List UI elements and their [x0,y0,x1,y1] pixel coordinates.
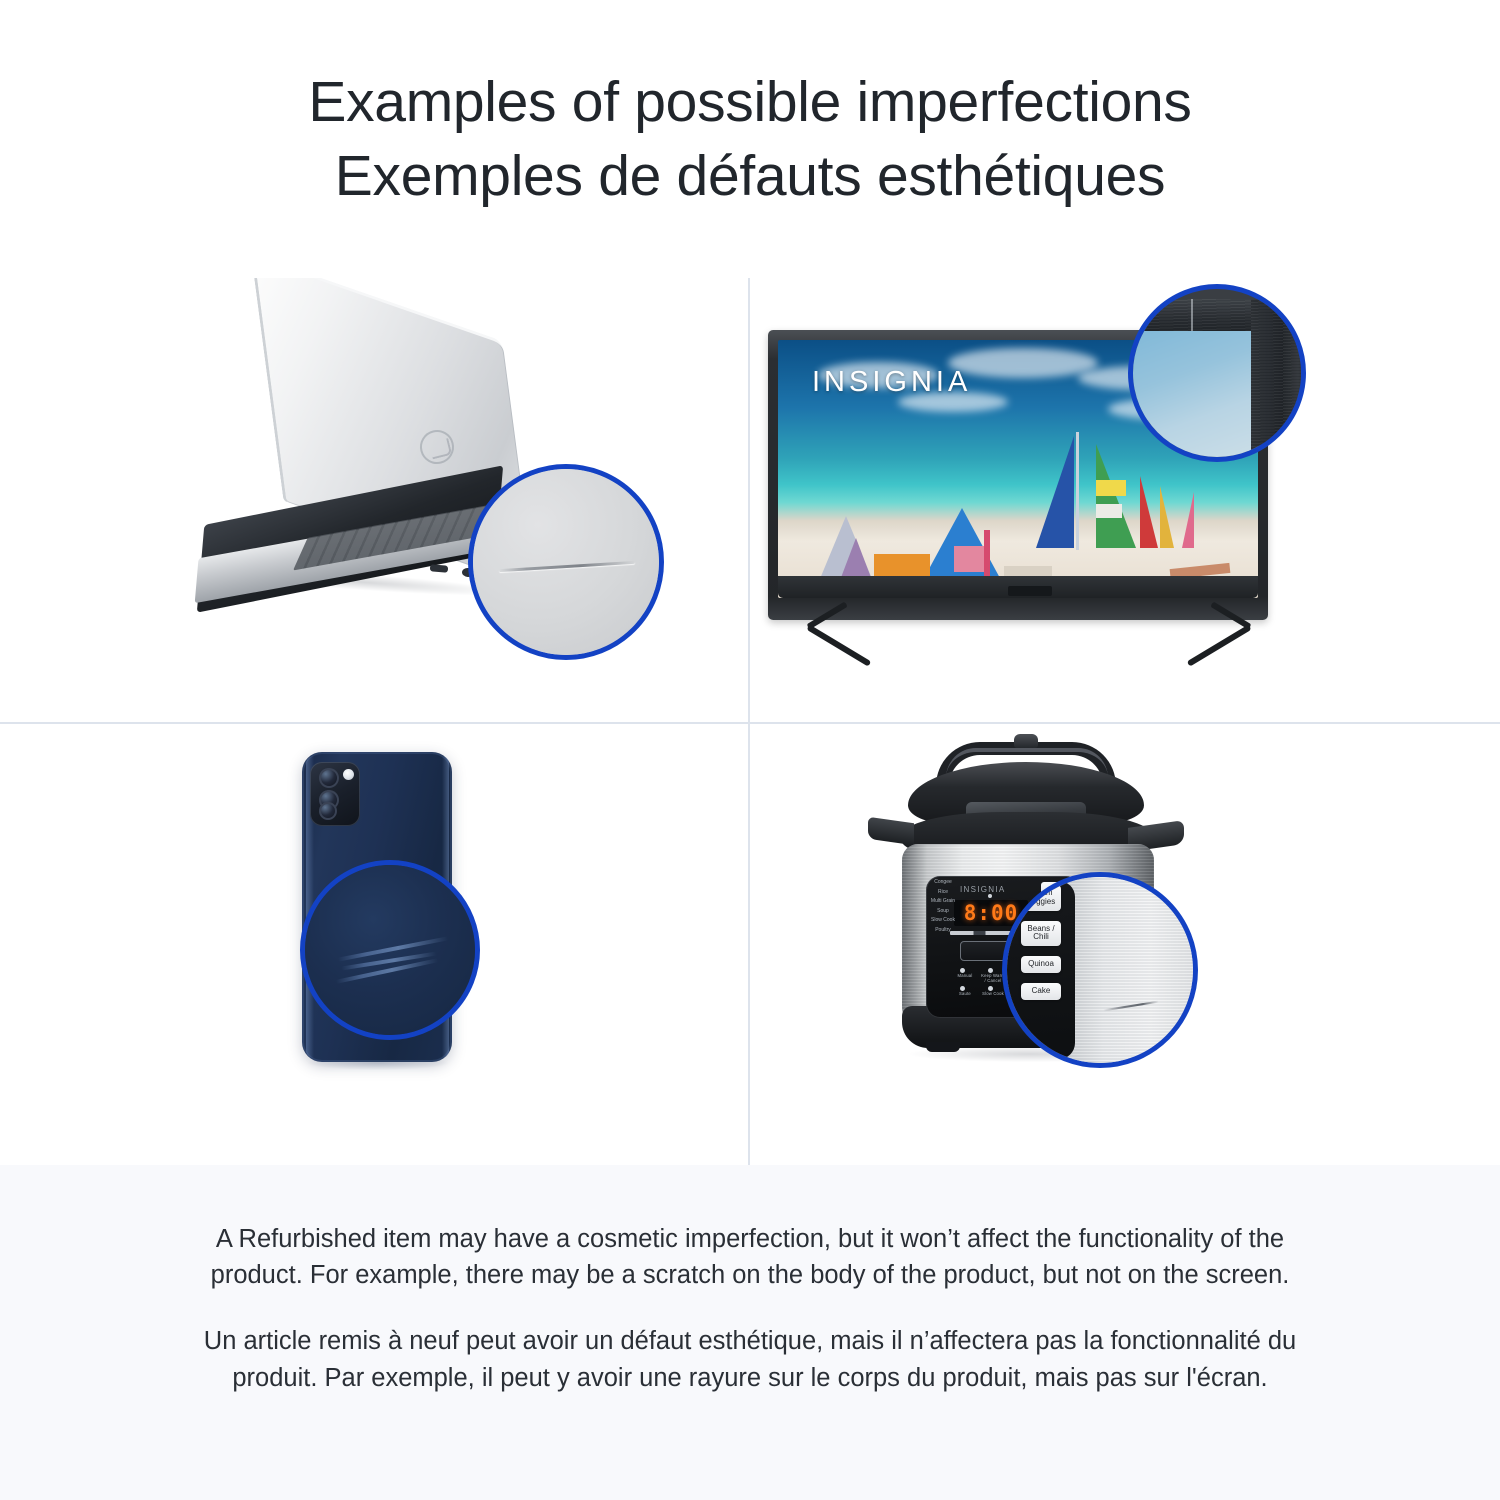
camera-lens-icon [319,802,337,820]
sail-blue-large [1036,436,1074,548]
cooker-closeup-button-cake[interactable]: Cake [1021,983,1061,1000]
tv-foot-right [1187,624,1252,666]
tv-foot-left [806,624,871,666]
cooker-defect-closeup: Delay Slow Cook Steam Veggies Beans / Ch… [1007,877,1193,1063]
product-examples-grid: INSIGNIA [0,278,1500,1165]
laptop-defect-closeup [473,469,659,655]
footer-description: A Refurbished item may have a cosmetic i… [0,1165,1500,1500]
cooker-pressure-valve [1014,734,1038,748]
cooker-closeup-button-steam-veggies[interactable]: Steam Veggies [1021,885,1061,911]
cooker-foot [926,1042,960,1052]
cooker-key-rice[interactable]: Rice [938,890,948,896]
panel-pressure-cooker: INSIGNIA 8:00 Congee Rice Multi Grain So… [750,724,1500,1165]
sail-gold [1160,486,1174,548]
cooker-status-indicator [988,894,992,898]
cooker-label-slow-cook: Slow Cook [980,992,1006,997]
cooker-label-saute: Saute [952,992,978,997]
magnifier-circle-phone [300,860,480,1040]
cooker-left-ear-handle [868,817,914,845]
sail-white-stripe [1096,504,1122,518]
phone-illustration [0,724,748,1165]
cooker-left-key-column[interactable]: Congee Rice Multi Grain Soup Slow Cook P… [928,880,958,933]
pressure-cooker-illustration: INSIGNIA 8:00 Congee Rice Multi Grain So… [750,724,1500,1165]
cooker-label-manual: Manual [952,974,978,979]
cooker-key-congee[interactable]: Congee [934,880,952,886]
cooker-closeup-button-column[interactable]: Steam Veggies Beans / Chili Quinoa Cake [1021,885,1061,1000]
sail-yellow-stripe [1096,480,1126,496]
phone-defect-closeup [305,865,475,1035]
tv-defect-closeup [1133,289,1301,457]
camera-lens-icon [319,768,339,788]
cooker-closeup-button-quinoa[interactable]: Quinoa [1021,956,1061,973]
sail-pink [1182,492,1194,548]
tv-illustration: INSIGNIA [750,278,1500,722]
laptop-usb-port [430,564,449,573]
page-title-english: Examples of possible imperfections [308,65,1191,139]
camera-flash-icon [343,769,354,780]
sail-red [1140,476,1158,548]
cooker-closeup-stainless [1067,877,1198,1068]
page-title-french: Exemples de défauts esthétiques [335,139,1165,213]
footer-paragraph-english: A Refurbished item may have a cosmetic i… [185,1221,1315,1293]
tv-brand-logo: INSIGNIA [812,366,971,399]
panel-laptop [0,278,748,722]
cooker-brand-label: INSIGNIA [960,885,1006,894]
sail-pink-patch [954,546,988,572]
tv-bezel-scuff [1191,299,1193,331]
cooker-key-soup[interactable]: Soup [937,909,949,915]
refurbished-imperfections-infographic: Examples of possible imperfections Exemp… [0,0,1500,1500]
phone-camera-module [310,762,360,826]
stainless-grain-texture [1067,877,1198,1068]
bezel-grain-texture [1283,303,1306,462]
sail-mast [1076,432,1079,550]
cooker-key-slow-cook[interactable]: Slow Cook [931,918,955,924]
page-header: Examples of possible imperfections Exemp… [0,0,1500,278]
laptop-scratch [499,561,635,572]
cooker-closeup-button-beans-chili[interactable]: Beans / Chili [1021,921,1061,947]
magnifier-circle-laptop [468,464,664,660]
magnifier-circle-cooker: Delay Slow Cook Steam Veggies Beans / Ch… [1002,872,1198,1068]
laptop-illustration [0,278,748,722]
cooker-key-multi-grain[interactable]: Multi Grain [931,899,955,905]
sail-green [1096,444,1136,548]
panel-tv: INSIGNIA [750,278,1500,722]
panel-phone [0,724,748,1165]
footer-paragraph-french: Un article remis à neuf peut avoir un dé… [185,1323,1315,1395]
tv-closeup-side-panel [1283,303,1306,462]
cooker-key-poultry[interactable]: Poultry [935,928,951,934]
tv-closeup-screen [1128,327,1259,462]
magnifier-circle-tv [1128,284,1306,462]
tv-ir-sensor [1008,586,1052,596]
